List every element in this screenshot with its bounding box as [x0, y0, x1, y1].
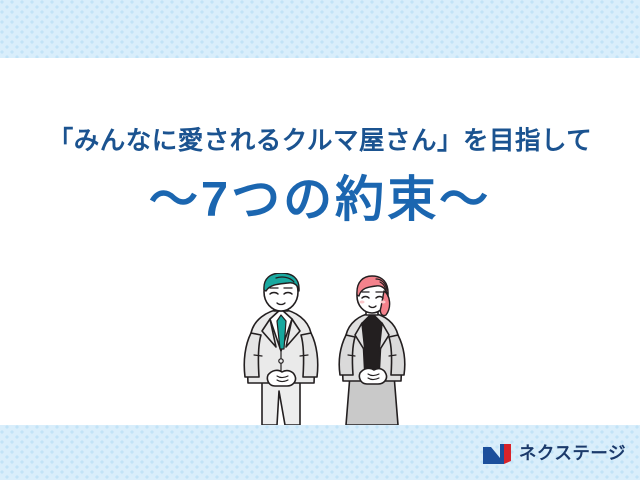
female-staff-figure [339, 276, 405, 425]
nextage-n-mark-icon [482, 443, 512, 465]
content-panel: 「みんなに愛されるクルマ屋さん」を目指して ～7つの約束～ [0, 58, 640, 425]
staff-illustration-svg [232, 273, 428, 425]
staff-illustration [232, 273, 428, 425]
nextage-wordmark: ネクステージ [519, 445, 626, 463]
promo-banner: 「みんなに愛されるクルマ屋さん」を目指して ～7つの約束～ [0, 0, 640, 480]
male-staff-figure [244, 273, 318, 425]
headline-text: 「みんなに愛されるクルマ屋さん」を目指して [0, 129, 640, 155]
nextage-logo: ネクステージ [482, 441, 626, 467]
main-title-text: ～7つの約束～ [0, 176, 640, 225]
